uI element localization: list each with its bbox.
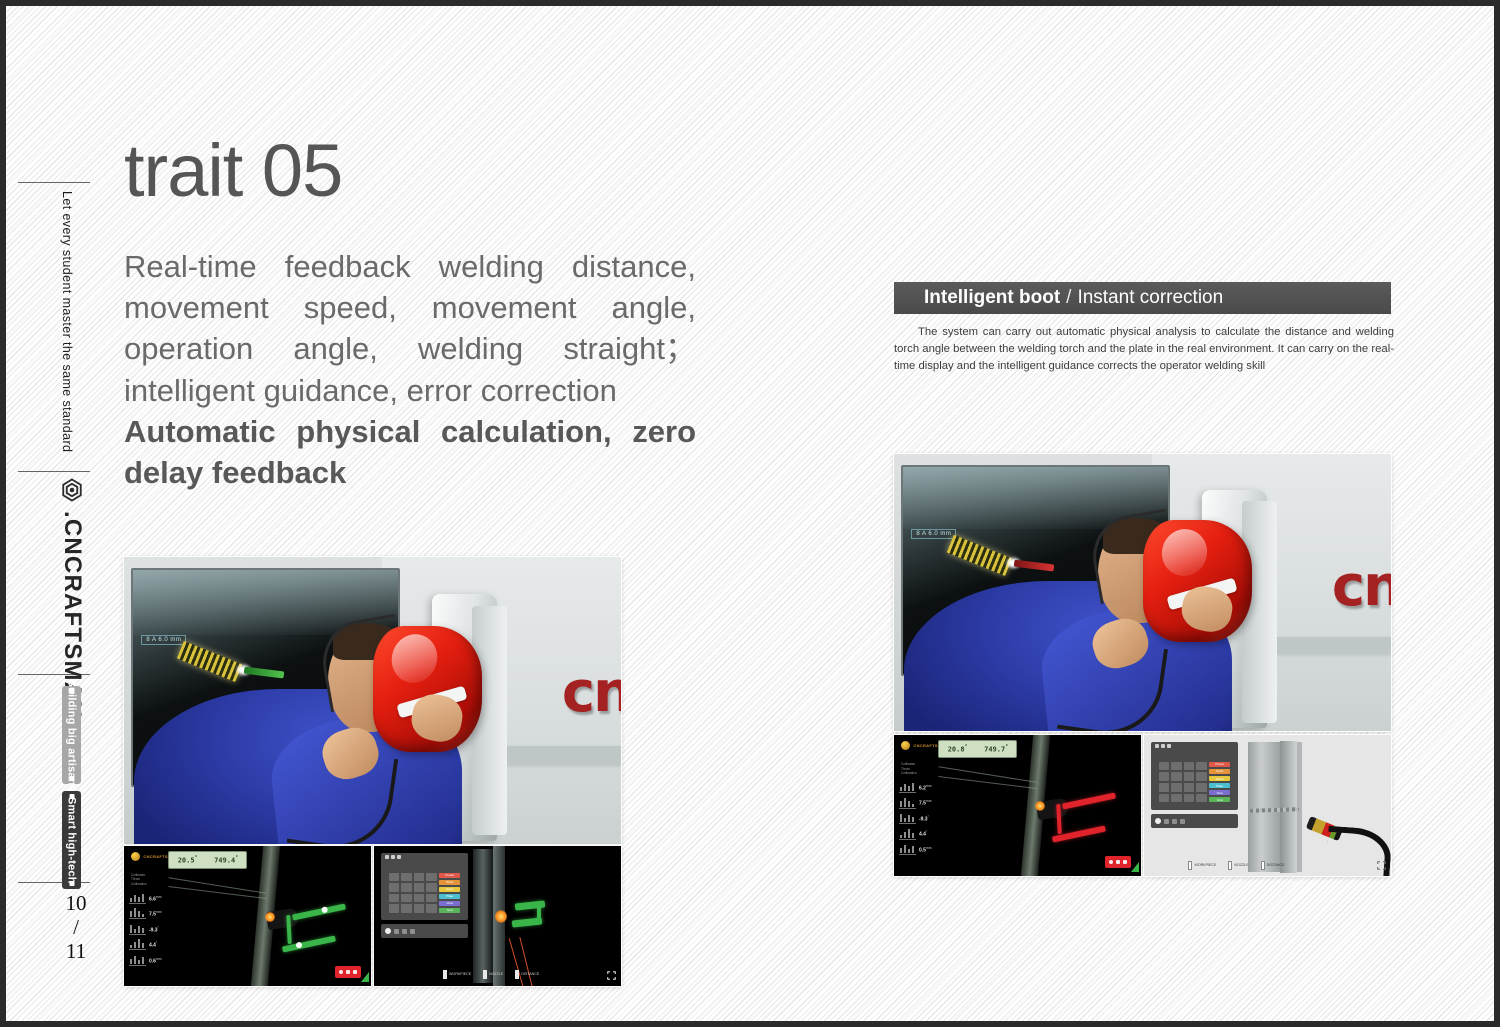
torch-icon <box>483 970 487 979</box>
section-body-text: The system can carry out automatic physi… <box>894 324 1394 375</box>
sim-3d-scene <box>124 846 371 986</box>
rail-divider-top <box>18 182 90 183</box>
heading-bold: Intelligent boot <box>924 287 1060 309</box>
sim-overlay-bar-top <box>1062 793 1116 811</box>
page-title: trait 05 <box>124 136 342 206</box>
palette-toolbar[interactable] <box>1151 814 1237 828</box>
tag-smart-high-tech: Smart high-tech <box>62 791 81 889</box>
palette-key[interactable]: Plate <box>1209 783 1230 788</box>
brochure-page: Let every student master the same standa… <box>6 6 1494 1021</box>
monitor-weld-strip <box>177 641 243 683</box>
heading-separator: / <box>1066 287 1071 309</box>
palette-key[interactable]: Preset <box>1209 762 1230 767</box>
toolbar-item-workpiece[interactable]: WORKPIECE <box>443 970 471 979</box>
section-heading-bar: Intelligent boot / Instant correction <box>894 282 1391 314</box>
toolbar-item-workpiece[interactable]: WORKPIECE <box>1188 861 1216 870</box>
lead-bold-text: Automatic physical calculation, zero del… <box>124 411 696 493</box>
sim-ui-dark-red: CNCRAFTSMAN 20.8° 749.7° Collimator Thro… <box>894 735 1141 876</box>
rail-divider-mid <box>18 471 90 472</box>
sim-ui-dark-2: Preset Torch Seam Plate View Grid <box>374 846 621 986</box>
palette-key[interactable]: Seam <box>1209 776 1230 781</box>
monitor-readout: 8 A 6.0 mm <box>141 635 186 645</box>
toolbar-item-distance[interactable]: DISTANCE <box>1261 861 1285 870</box>
monitor-overlay-bar-1 <box>244 667 284 679</box>
sim-overlay-connector-2 <box>537 902 541 923</box>
monitor-readout: 8 A 6.0 mm <box>911 529 956 539</box>
screenshot-sim-light: Preset Torch Seam Plate View Grid <box>1144 735 1391 876</box>
parameter-palette-panel[interactable]: Preset Torch Seam Plate View Grid <box>1151 742 1237 810</box>
monitor-weld-strip <box>947 534 1013 575</box>
left-rail: Let every student master the same standa… <box>18 6 104 1021</box>
palette-key[interactable]: Grid <box>1209 797 1230 802</box>
sim-bottom-toolbar[interactable]: WORKPIECE NOZZLE DISTANCE <box>1188 858 1381 874</box>
fullscreen-icon[interactable] <box>607 971 616 980</box>
sim-guide-ray-2 <box>939 775 1037 788</box>
monitor-overlay-bar-1 <box>1014 560 1054 572</box>
record-button[interactable] <box>335 966 361 978</box>
fullscreen-icon[interactable] <box>1377 861 1386 870</box>
lead-paragraph: Real-time feedback welding distance, mov… <box>124 246 696 493</box>
sim-weld-arc <box>1035 801 1045 811</box>
palette-button-grid[interactable] <box>1159 762 1207 803</box>
sim-weld-arc <box>265 912 275 922</box>
measure-icon <box>1261 861 1265 870</box>
palette-key[interactable]: Torch <box>1209 769 1230 774</box>
palette-key[interactable]: View <box>1209 790 1230 795</box>
sim-3d-scene-2 <box>374 846 621 986</box>
plate-icon <box>1188 861 1192 870</box>
sim-overlay-bar-top <box>292 903 346 920</box>
tag-building-big-artisans: Building big artisans <box>62 686 81 784</box>
palette-record-icon[interactable] <box>1155 818 1161 824</box>
cncraftsman-logo-icon <box>58 476 86 504</box>
screenshot-sim-palette-dark: Preset Torch Seam Plate View Grid <box>374 846 621 986</box>
toolbar-item-nozzle[interactable]: NOZZLE <box>483 970 503 979</box>
lead-regular-text: Real-time feedback welding distance, mov… <box>124 249 696 408</box>
photo-welder-main-right: cn 8 A 6.0 mm <box>894 454 1391 731</box>
sim-weld-arc-2 <box>495 910 507 923</box>
record-button[interactable] <box>1105 856 1131 868</box>
torch-icon <box>1228 861 1232 870</box>
sim-guide-ray-1 <box>939 767 1037 783</box>
measure-icon <box>515 970 519 979</box>
page-number-separator: / <box>52 915 100 939</box>
plate-icon <box>443 970 447 979</box>
page-number-current: 10 <box>52 891 100 915</box>
sim-ui-dark: CNCRAFTSMAN 20.5° 749.4° Collimator Thro… <box>124 846 371 986</box>
sim-direction-arrow <box>1131 862 1139 872</box>
heading-normal: Instant correction <box>1077 287 1223 309</box>
wall-logo-cn: cn <box>562 660 621 725</box>
right-media-panel: cn 8 A 6.0 mm <box>894 454 1391 876</box>
sim-direction-arrow <box>361 972 369 982</box>
palette-color-keys[interactable]: Preset Torch Seam Plate View Grid <box>1209 762 1230 803</box>
toolbar-item-nozzle[interactable]: NOZZLE <box>1228 861 1248 870</box>
sim-guide-ray-2 <box>169 886 267 899</box>
weld-bead-secondary <box>1144 735 1166 737</box>
sim-ui-light: Preset Torch Seam Plate View Grid <box>1144 735 1391 876</box>
screenshot-sim-green: CNCRAFTSMAN 20.5° 749.4° Collimator Thro… <box>124 846 371 986</box>
photo-welder-main-left: cn 8 A 6.0 mm <box>124 557 621 844</box>
page-number: 10 / 11 <box>52 891 100 963</box>
rail-tagline: Let every student master the same standa… <box>60 191 74 452</box>
sim-3d-scene <box>894 735 1141 876</box>
sim-bottom-toolbar[interactable]: WORKPIECE NOZZLE DISTANCE <box>443 966 613 981</box>
page-number-total: 11 <box>52 939 100 963</box>
screenshot-sim-red: CNCRAFTSMAN 20.8° 749.7° Collimator Thro… <box>894 735 1141 876</box>
sim-plate-a <box>473 849 493 983</box>
palette-titlebar-dots <box>1155 744 1171 748</box>
toolbar-item-distance[interactable]: DISTANCE <box>515 970 539 979</box>
wall-logo-cn: cn <box>1332 554 1391 619</box>
